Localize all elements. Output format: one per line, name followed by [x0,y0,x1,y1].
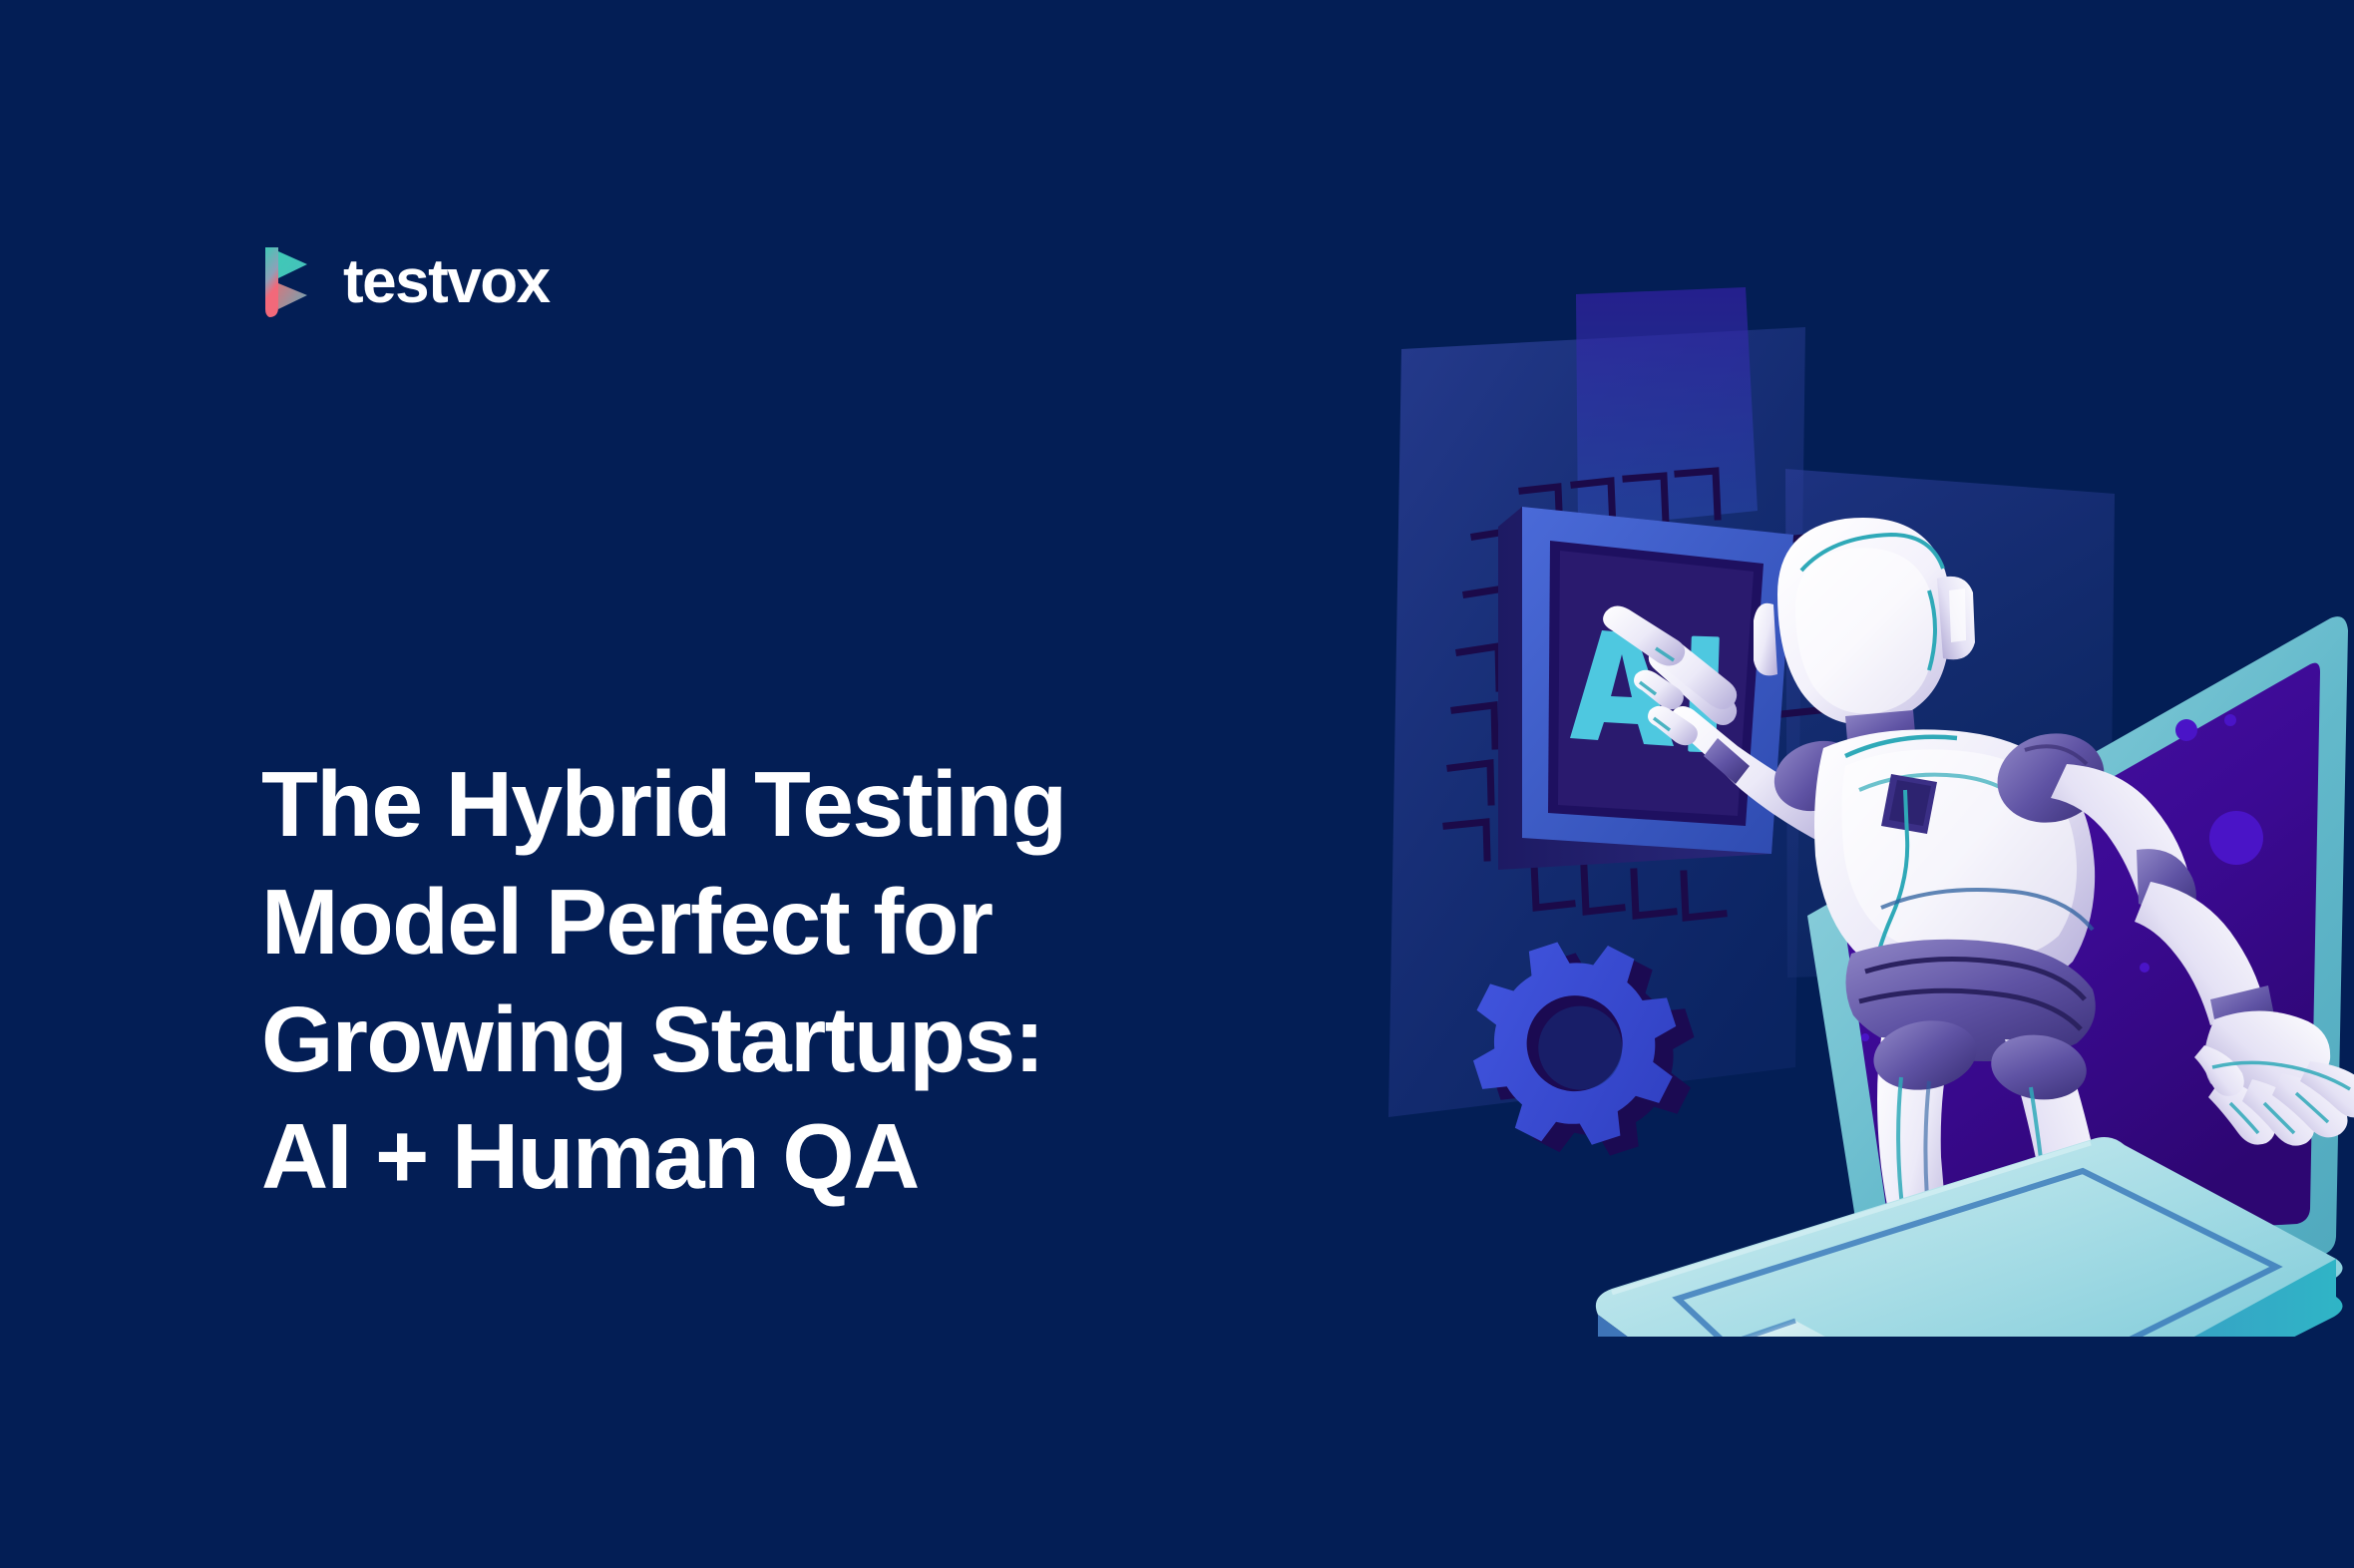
page-title: The Hybrid Testing Model Perfect for Gro… [261,746,1319,1216]
headline-line-1: The Hybrid Testing [261,746,1319,864]
headline-line-3: Growing Startups: [261,981,1319,1099]
headline-line-4: AI + Human QA [261,1098,1319,1216]
brand-logo[interactable]: testvox [261,245,550,319]
ai-chip-icon [1446,471,1821,918]
ai-robot-laptop-illustration [1327,279,2354,1337]
headline-line-2: Model Perfect for [261,864,1319,981]
testvox-logo-mark-icon [261,245,321,319]
hero-banner: testvox The Hybrid Testing Model Perfect… [0,0,2354,1568]
brand-name: testvox [343,251,550,313]
